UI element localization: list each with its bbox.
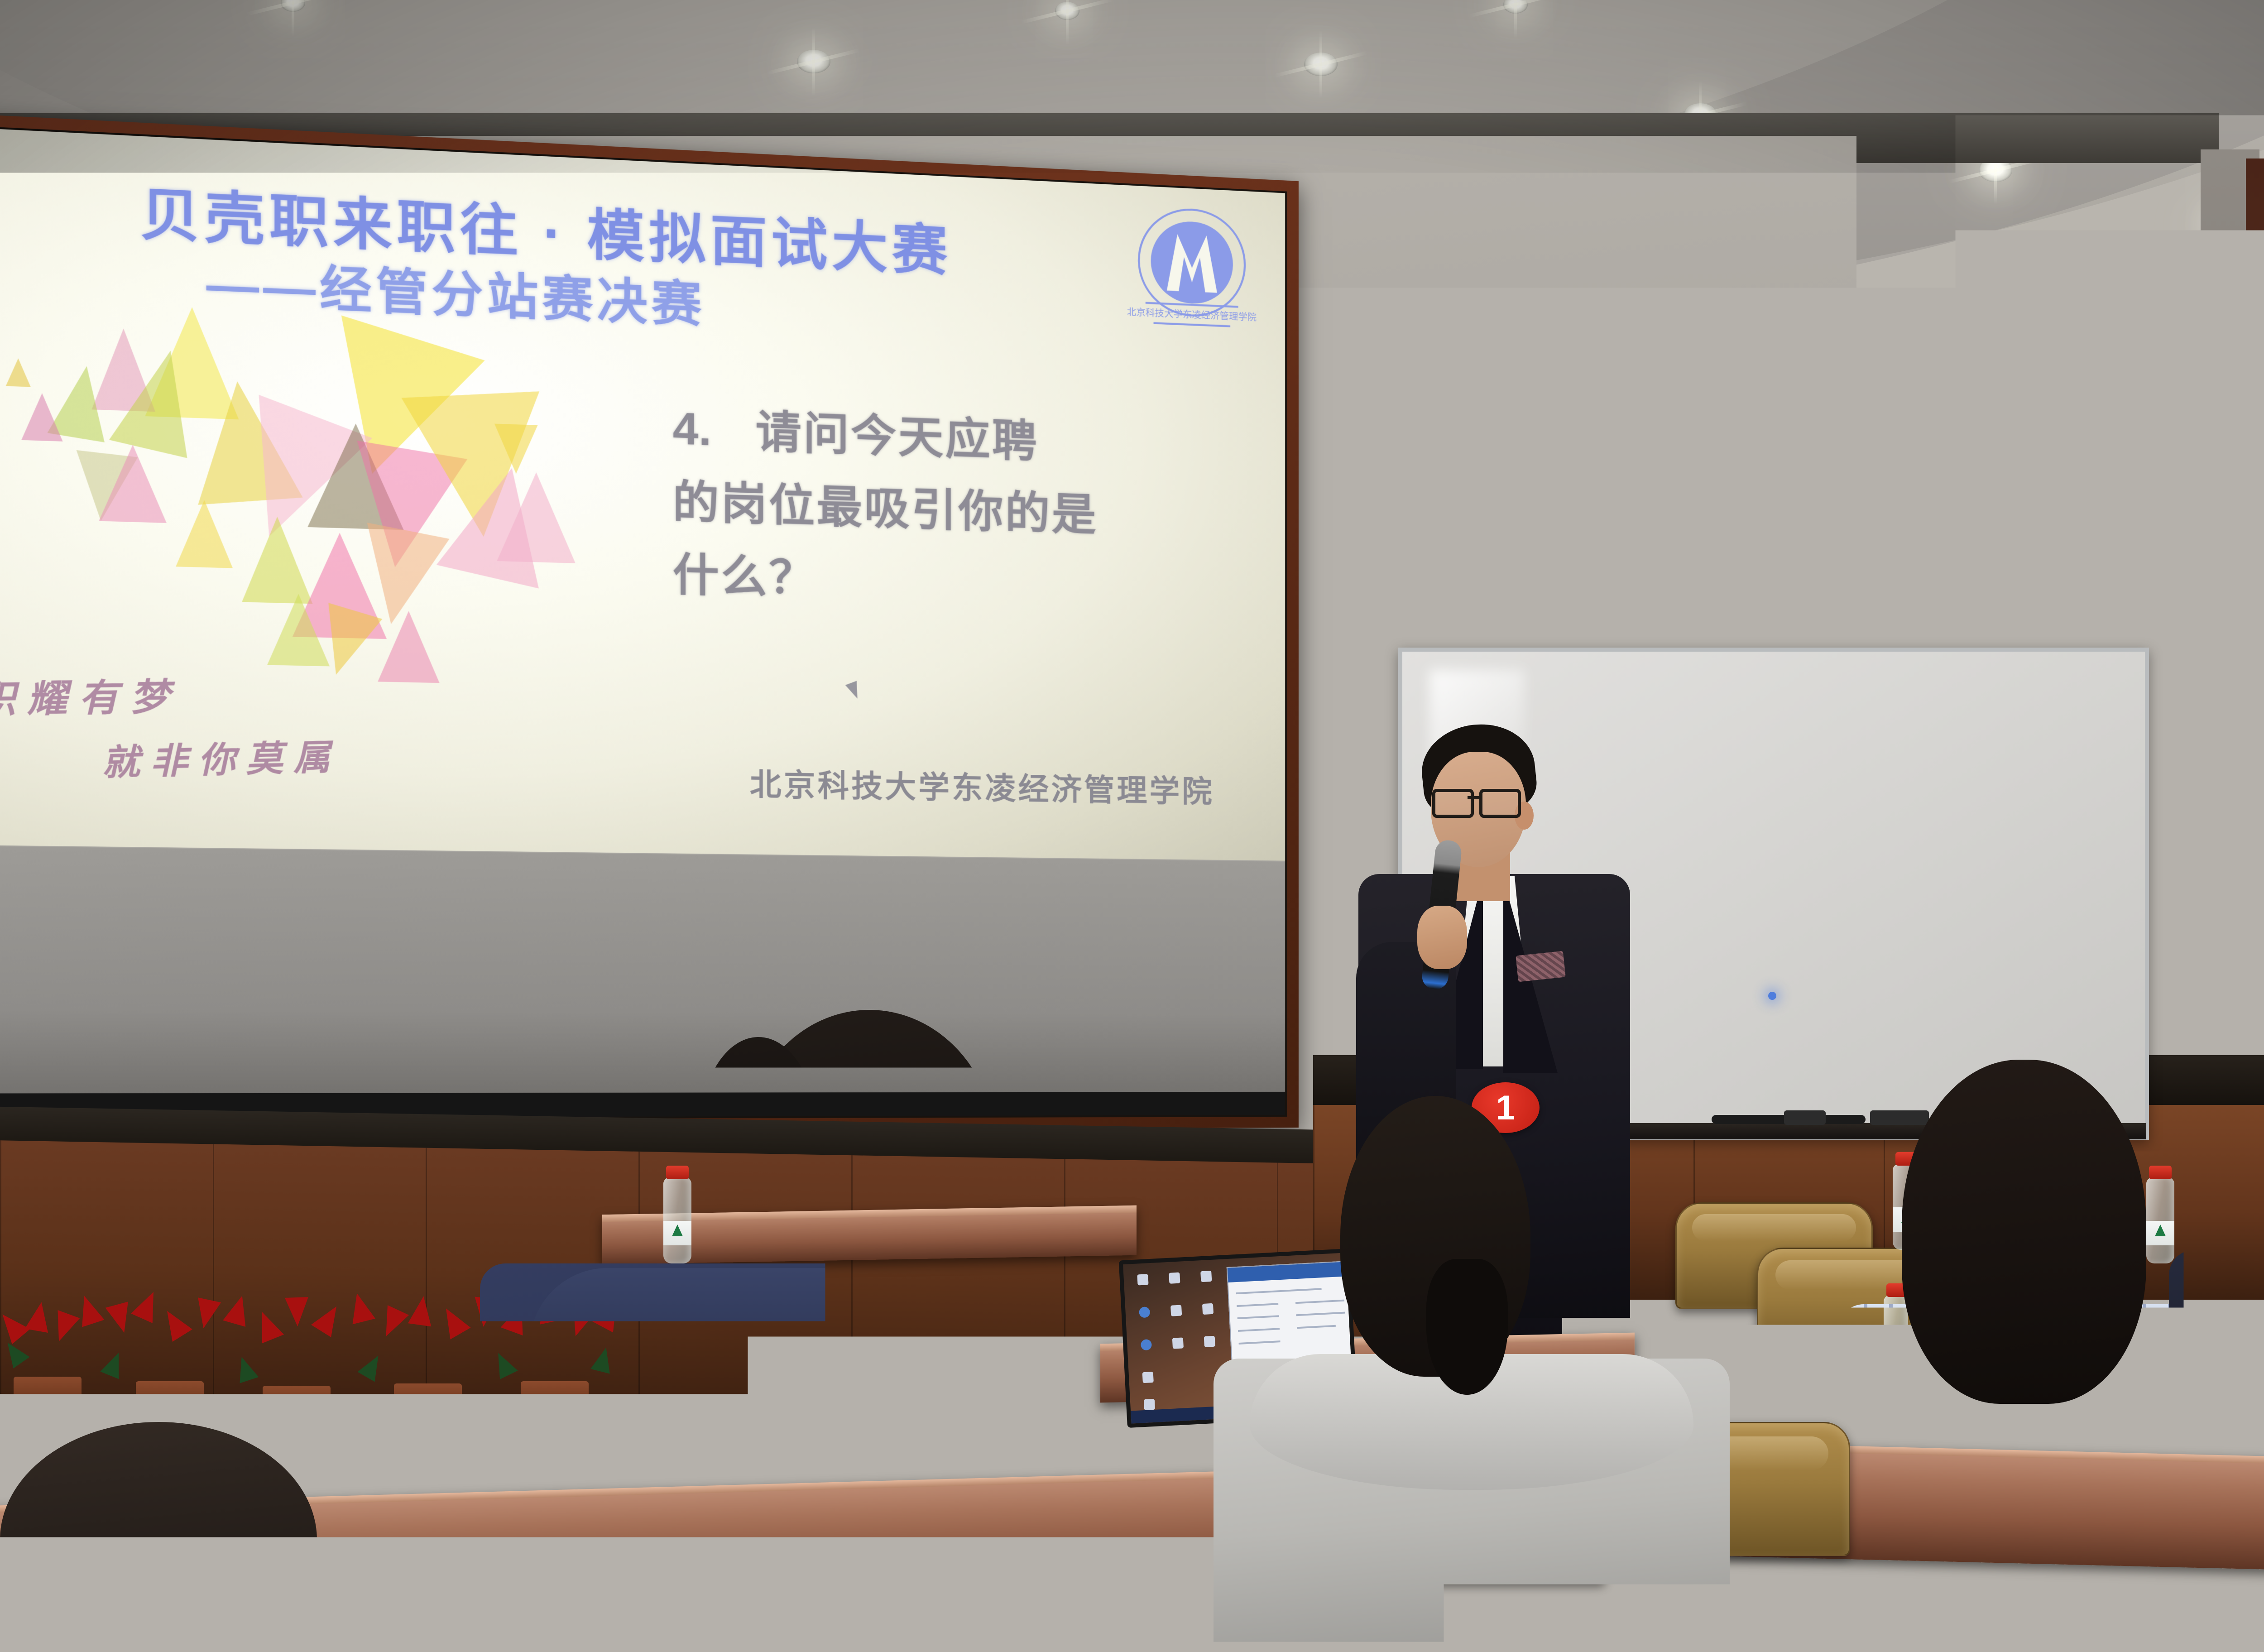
mouse-pointer-icon [845, 681, 863, 701]
water-bottle[interactable] [663, 1177, 691, 1263]
question-line-1: 请问今天应聘 [756, 407, 1039, 466]
downlight-icon [1304, 53, 1338, 76]
presenter-hand [1417, 906, 1467, 969]
projector-light-dot-icon [1768, 992, 1776, 1000]
audience-head [700, 1037, 817, 1227]
school-logo-icon: 北京科技大学东凌经济管理学院 [1126, 201, 1258, 339]
downlight-icon [1055, 2, 1079, 20]
projection-screen[interactable]: 北京科技大学东凌经济管理学院 贝壳职来职往 · 模拟面试大赛 ——经管分站赛决赛… [0, 125, 1287, 1120]
downlight-icon [797, 50, 830, 73]
microphone-icon [2152, 838, 2172, 865]
lecture-hall-scene: 北京科技大学东凌经济管理学院 贝壳职来职往 · 模拟面试大赛 ——经管分站赛决赛… [0, 0, 2264, 1652]
svg-text:北京科技大学东凌经济管理学院: 北京科技大学东凌经济管理学院 [1127, 307, 1257, 323]
whiteboard-eraser[interactable] [1870, 1110, 1929, 1125]
suit-torso [2169, 1250, 2264, 1567]
slide-handwriting-line-1: 职耀有梦 [0, 667, 182, 724]
microphone-stand [2154, 851, 2170, 987]
eyeglasses-icon [1432, 789, 1518, 812]
slide-organization: 北京科技大学东凌经济管理学院 [750, 759, 1214, 811]
audience-head [1902, 1060, 2146, 1404]
question-number: 4. [673, 403, 711, 455]
ponytail [1426, 1259, 1508, 1395]
water-bottle[interactable] [2146, 1177, 2174, 1263]
host-lips [2221, 842, 2243, 850]
audience-head [0, 1422, 317, 1652]
presenter-pocket-square [1516, 951, 1565, 982]
projection-screen-unlit-area [0, 845, 1285, 1118]
projection-screen-frame: 北京科技大学东凌经济管理学院 贝壳职来职往 · 模拟面试大赛 ——经管分站赛决赛… [0, 113, 1299, 1132]
projected-slide: 北京科技大学东凌经济管理学院 贝壳职来职往 · 模拟面试大赛 ——经管分站赛决赛… [0, 127, 1285, 862]
whiteboard-eraser[interactable] [1784, 1110, 1826, 1125]
slide-question: 4. 请问今天应聘 的岗位最吸引你的是 什么？ [673, 393, 1263, 626]
slide-handwriting-line-2: 就非你莫属 [101, 729, 341, 786]
ponytail [824, 1200, 924, 1336]
